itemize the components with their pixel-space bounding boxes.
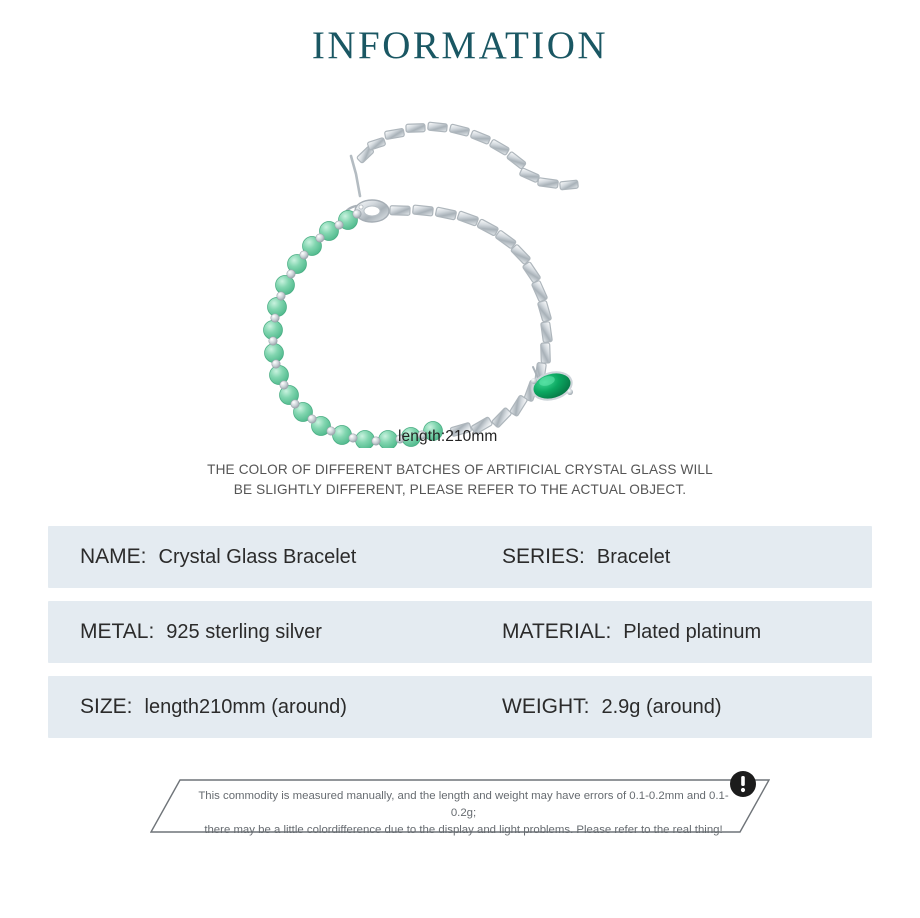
spec-key: METAL: <box>80 620 154 644</box>
spec-key: WEIGHT: <box>502 695 590 719</box>
page-title: INFORMATION <box>0 0 920 68</box>
spec-value: Plated platinum <box>623 621 761 644</box>
spec-value: 2.9g (around) <box>602 696 722 719</box>
box-chain <box>390 205 553 437</box>
emerald-charm <box>529 367 575 404</box>
spec-cell-metal: METAL: 925 sterling silver <box>48 620 498 644</box>
spec-cell-series: SERIES: Bracelet <box>498 545 872 569</box>
spacer-beads <box>269 210 426 445</box>
exclamation-icon <box>729 770 757 798</box>
spec-value: 925 sterling silver <box>166 621 322 644</box>
spec-key: NAME: <box>80 545 147 569</box>
table-row: SIZE: length210mm (around) WEIGHT: 2.9g … <box>48 676 872 738</box>
color-disclaimer: THE COLOR OF DIFFERENT BATCHES OF ARTIFI… <box>0 460 920 500</box>
spec-value: Bracelet <box>597 546 670 569</box>
spec-cell-material: MATERIAL: Plated platinum <box>498 620 872 644</box>
notice-text: This commodity is measured manually, and… <box>186 788 741 839</box>
table-row: NAME: Crystal Glass Bracelet SERIES: Bra… <box>48 526 872 588</box>
product-image-container: length:210mm <box>0 78 920 448</box>
table-row: METAL: 925 sterling silver MATERIAL: Pla… <box>48 601 872 663</box>
spec-value: Crystal Glass Bracelet <box>159 546 357 569</box>
spec-cell-size: SIZE: length210mm (around) <box>48 695 498 719</box>
disclaimer-line-2: BE SLIGHTLY DIFFERENT, PLEASE REFER TO T… <box>180 480 740 500</box>
length-annotation: length:210mm <box>398 428 497 446</box>
specification-table: NAME: Crystal Glass Bracelet SERIES: Bra… <box>48 526 872 738</box>
spec-value: length210mm (around) <box>145 696 347 719</box>
spec-cell-name: NAME: Crystal Glass Bracelet <box>48 545 498 569</box>
spec-key: SIZE: <box>80 695 133 719</box>
notice-line-2: there may be a little colordifference du… <box>186 822 741 839</box>
crystal-bead-strand <box>264 211 443 449</box>
spec-key: MATERIAL: <box>502 620 611 644</box>
disclaimer-line-1: THE COLOR OF DIFFERENT BATCHES OF ARTIFI… <box>180 460 740 480</box>
footer-notice: This commodity is measured manually, and… <box>0 770 920 842</box>
spec-key: SERIES: <box>502 545 585 569</box>
notice-line-1: This commodity is measured manually, and… <box>186 788 741 822</box>
spec-cell-weight: WEIGHT: 2.9g (around) <box>498 695 872 719</box>
bracelet-illustration <box>220 78 700 448</box>
extender-chain <box>356 122 578 190</box>
